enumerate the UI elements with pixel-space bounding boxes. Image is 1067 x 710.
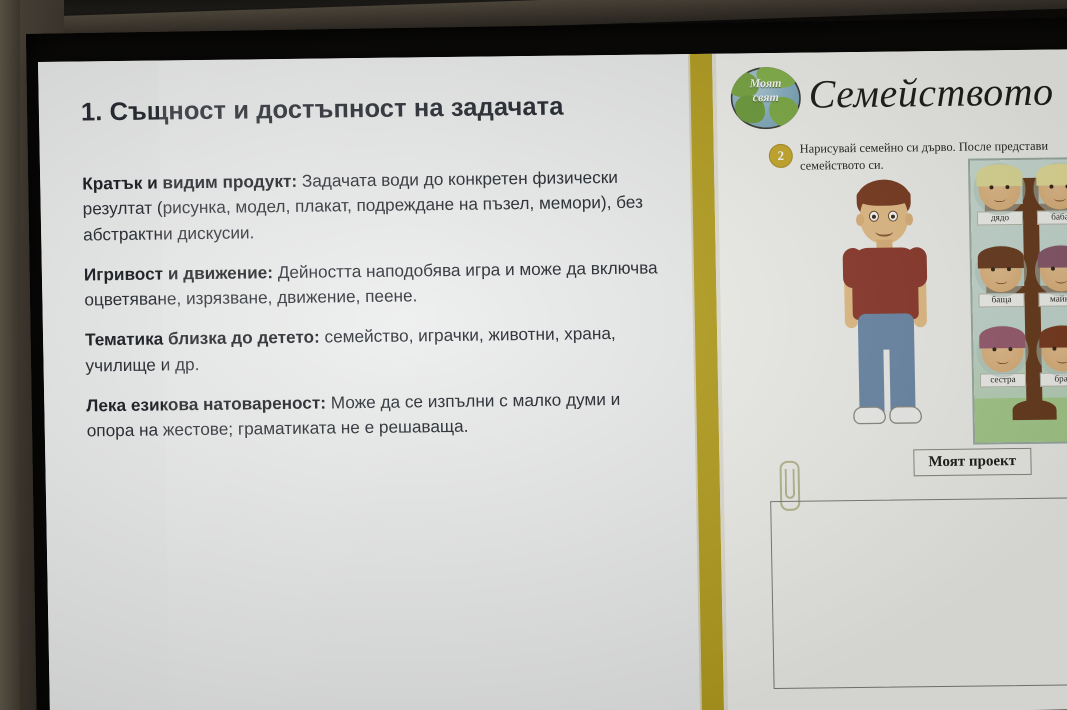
worksheet-title: Семейството	[808, 68, 1054, 118]
task-number-badge: 2	[770, 145, 792, 167]
family-label-sister: сестра	[980, 373, 1026, 387]
bullet-lead-2: Игривост и движение:	[84, 262, 273, 284]
bullet-paragraph-3: Тематика близка до детето: семейство, иг…	[85, 321, 664, 379]
globe-logo-icon: Моят свят	[730, 67, 801, 130]
screenshot-stage: 1. Същност и достъпност на задачата Крат…	[0, 0, 1067, 710]
family-label-mother: майка	[1038, 292, 1067, 306]
family-member-grandfather: дядо	[976, 168, 1023, 225]
family-member-brother: брат	[1039, 329, 1067, 386]
bullet-paragraph-2: Игривост и движение: Дейността наподобяв…	[84, 255, 663, 313]
family-label-brother: брат	[1040, 372, 1067, 386]
logo-line-1: Моят	[749, 76, 781, 90]
projected-slide: 1. Същност и достъпност на задачата Крат…	[38, 49, 1067, 710]
project-badge: Моят проект	[913, 448, 1031, 476]
family-member-grandmother: баба	[1036, 167, 1067, 224]
bullet-lead-4: Лека езикова натовареност:	[86, 392, 326, 415]
boy-illustration	[828, 179, 943, 442]
family-tree-illustration: дядо баба баща майка сестра	[970, 159, 1067, 442]
slide-body: Кратък и видим продукт: Задачата води до…	[82, 164, 665, 459]
worksheet-panel: Семейството ми © 2025 от Heritage Langua…	[716, 49, 1067, 710]
bullet-paragraph-4: Лека езикова натовареност: Може да се из…	[86, 386, 665, 444]
family-label-grandfather: дядо	[977, 211, 1023, 225]
family-label-grandmother: баба	[1037, 210, 1067, 224]
family-member-father: баща	[978, 250, 1025, 307]
logo-line-2: свят	[753, 90, 779, 104]
slide-text-column: 1. Същност и достъпност на задачата Крат…	[38, 54, 700, 710]
family-member-mother: майка	[1038, 249, 1067, 306]
page-title: 1. Същност и достъпност на задачата	[81, 90, 662, 129]
left-wall-edge	[0, 0, 20, 710]
bullet-lead-3: Тематика близка до детето:	[85, 327, 320, 350]
family-label-father: баща	[978, 293, 1024, 307]
bullet-lead-1: Кратък и видим продукт:	[82, 171, 297, 194]
family-member-sister: сестра	[979, 330, 1026, 387]
globe-logo-text: Моят свят	[730, 77, 801, 105]
drawing-area-box[interactable]	[770, 497, 1067, 689]
bullet-paragraph-1: Кратък и видим продукт: Задачата води до…	[82, 164, 661, 247]
